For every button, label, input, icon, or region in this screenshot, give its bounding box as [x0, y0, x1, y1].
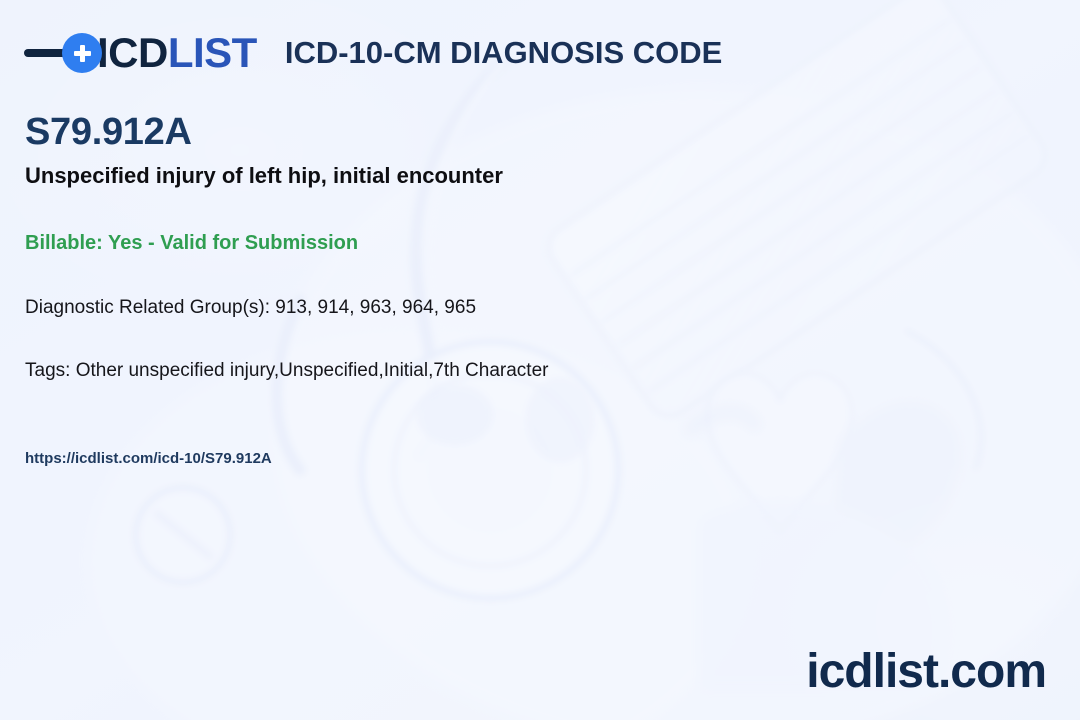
poster-canvas: ICDLIST ICD-10-CM DIAGNOSIS CODE S79.912…	[0, 0, 1080, 720]
diagnosis-code: S79.912A	[25, 112, 548, 154]
footer-brand: icdlist.com	[806, 648, 1046, 696]
logo-wordmark: ICDLIST	[97, 32, 257, 74]
diagnosis-details: S79.912A Unspecified injury of left hip,…	[25, 112, 548, 468]
billable-status: Billable: Yes - Valid for Submission	[25, 231, 548, 255]
logo-word-icd: ICD	[97, 29, 168, 76]
diagnosis-description: Unspecified injury of left hip, initial …	[25, 163, 548, 189]
page-header: ICDLIST ICD-10-CM DIAGNOSIS CODE	[24, 27, 722, 79]
plus-circle-icon	[62, 33, 102, 73]
source-url[interactable]: https://icdlist.com/icd-10/S79.912A	[25, 450, 548, 468]
page-title: ICD-10-CM DIAGNOSIS CODE	[285, 35, 722, 71]
drg-list: Diagnostic Related Group(s): 913, 914, 9…	[25, 297, 548, 320]
logo-word-list: LIST	[168, 29, 257, 76]
tags-list: Tags: Other unspecified injury,Unspecifi…	[25, 360, 548, 383]
icdlist-logo[interactable]: ICDLIST	[24, 32, 257, 74]
